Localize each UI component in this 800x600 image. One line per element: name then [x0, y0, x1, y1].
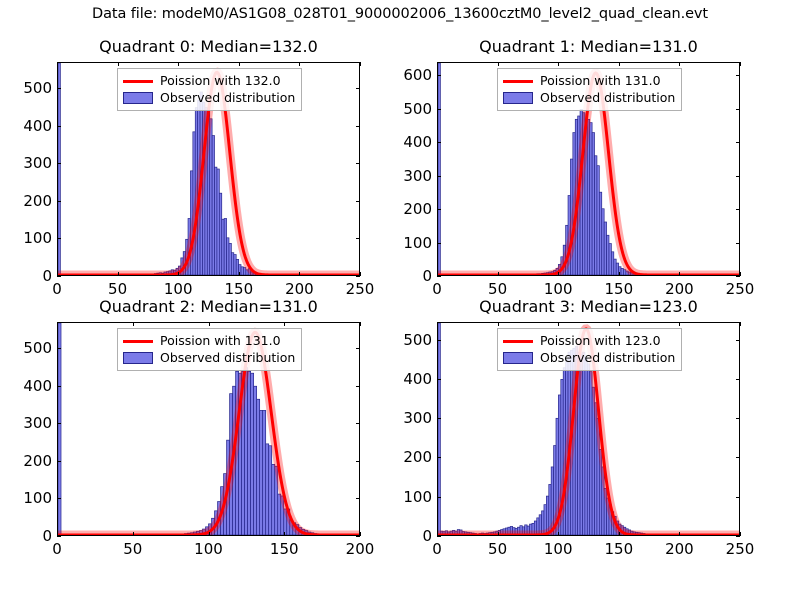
y-tick-label: 0 [422, 267, 432, 285]
y-tick-label: 300 [23, 154, 52, 172]
x-tick-mark [740, 532, 741, 536]
y-tick-mark [356, 163, 360, 164]
x-tick-mark [360, 322, 361, 326]
x-tick-label: 250 [346, 280, 375, 298]
y-tick-mark [736, 497, 740, 498]
y-tick-mark [437, 243, 441, 244]
y-tick-mark [437, 176, 441, 177]
y-tick-mark [57, 461, 61, 462]
x-tick-label: 0 [432, 540, 442, 558]
y-tick-mark [57, 423, 61, 424]
y-tick-mark [437, 536, 441, 537]
x-tick-mark [437, 272, 438, 276]
y-tick-label: 400 [23, 117, 52, 135]
y-tick-mark [736, 209, 740, 210]
legend-quadrant-1: Poission with 131.0 Observed distributio… [497, 68, 682, 111]
line-swatch-icon [123, 335, 153, 348]
line-swatch-icon [503, 75, 533, 88]
y-tick-label: 200 [23, 452, 52, 470]
x-tick-mark [284, 532, 285, 536]
legend-label-poisson: Poission with 131.0 [540, 73, 661, 90]
legend-label-poisson: Poission with 132.0 [160, 73, 281, 90]
y-tick-mark [437, 109, 441, 110]
x-tick-mark [360, 272, 361, 276]
y-tick-mark [437, 209, 441, 210]
y-tick-mark [736, 457, 740, 458]
legend-entry-observed: Observed distribution [503, 350, 675, 367]
x-tick-mark [133, 322, 134, 326]
subplot-quadrant-0: Quadrant 0: Median=132.0 010020030040050… [57, 62, 360, 276]
legend-label-observed: Observed distribution [540, 90, 675, 107]
x-tick-mark [619, 62, 620, 66]
y-tick-mark [437, 276, 441, 277]
x-tick-mark [619, 322, 620, 326]
bar-swatch-icon [123, 92, 153, 104]
y-tick-mark [57, 498, 61, 499]
y-tick-mark [437, 457, 441, 458]
y-tick-mark [736, 340, 740, 341]
y-tick-mark [57, 201, 61, 202]
y-tick-mark [356, 348, 360, 349]
x-tick-label: 100 [164, 280, 193, 298]
legend-entry-observed: Observed distribution [123, 350, 295, 367]
legend-entry-poisson: Poission with 131.0 [123, 333, 295, 350]
legend-label-poisson: Poission with 123.0 [540, 333, 661, 350]
y-tick-mark [57, 536, 61, 537]
y-tick-label: 100 [403, 488, 432, 506]
bar-swatch-icon [123, 352, 153, 364]
y-tick-mark [437, 418, 441, 419]
figure-canvas: Data file: modeM0/AS1G08_028T01_90000020… [0, 0, 800, 600]
y-tick-label: 200 [403, 200, 432, 218]
x-tick-mark [740, 322, 741, 326]
x-tick-mark [498, 272, 499, 276]
x-tick-label: 150 [604, 540, 633, 558]
y-tick-mark [736, 379, 740, 380]
y-tick-mark [437, 142, 441, 143]
x-tick-mark [498, 62, 499, 66]
y-tick-label: 200 [23, 192, 52, 210]
x-tick-mark [209, 532, 210, 536]
x-tick-mark [360, 62, 361, 66]
x-tick-label: 150 [270, 540, 299, 558]
y-tick-mark [57, 386, 61, 387]
legend-label-observed: Observed distribution [540, 350, 675, 367]
x-tick-label: 250 [726, 280, 755, 298]
x-tick-mark [437, 62, 438, 66]
y-tick-mark [356, 88, 360, 89]
x-tick-mark [57, 322, 58, 326]
x-tick-mark [558, 532, 559, 536]
x-tick-mark [118, 272, 119, 276]
x-tick-mark [558, 62, 559, 66]
x-tick-label: 150 [604, 280, 633, 298]
x-tick-mark [299, 272, 300, 276]
x-tick-mark [437, 322, 438, 326]
y-tick-label: 500 [403, 331, 432, 349]
line-swatch-icon [123, 75, 153, 88]
x-tick-label: 50 [488, 540, 507, 558]
legend-label-observed: Observed distribution [160, 90, 295, 107]
x-tick-mark [178, 272, 179, 276]
x-tick-label: 200 [346, 540, 375, 558]
x-tick-label: 200 [665, 280, 694, 298]
y-tick-label: 400 [403, 370, 432, 388]
y-tick-mark [736, 536, 740, 537]
x-tick-label: 200 [665, 540, 694, 558]
subplot-title-quadrant-2: Quadrant 2: Median=131.0 [57, 297, 360, 316]
legend-entry-poisson: Poission with 132.0 [123, 73, 295, 90]
y-tick-mark [736, 243, 740, 244]
x-tick-label: 0 [432, 280, 442, 298]
x-tick-mark [118, 62, 119, 66]
y-tick-label: 200 [403, 448, 432, 466]
x-tick-mark [619, 532, 620, 536]
legend-label-observed: Observed distribution [160, 350, 295, 367]
x-tick-mark [740, 272, 741, 276]
x-tick-label: 150 [224, 280, 253, 298]
x-tick-mark [133, 532, 134, 536]
y-tick-mark [57, 126, 61, 127]
x-tick-mark [239, 272, 240, 276]
x-tick-label: 100 [194, 540, 223, 558]
x-tick-mark [498, 532, 499, 536]
x-tick-mark [284, 322, 285, 326]
x-tick-label: 0 [52, 540, 62, 558]
x-tick-mark [558, 272, 559, 276]
y-tick-label: 400 [23, 377, 52, 395]
x-tick-label: 50 [123, 540, 142, 558]
subplot-quadrant-3: Quadrant 3: Median=123.0 010020030040050… [437, 322, 740, 536]
y-tick-mark [736, 142, 740, 143]
y-tick-mark [57, 88, 61, 89]
y-tick-mark [736, 276, 740, 277]
y-tick-mark [356, 276, 360, 277]
x-tick-mark [209, 322, 210, 326]
figure-title: Data file: modeM0/AS1G08_028T01_90000020… [0, 6, 800, 22]
y-tick-mark [437, 75, 441, 76]
x-tick-mark [299, 62, 300, 66]
y-tick-mark [356, 201, 360, 202]
x-tick-mark [740, 62, 741, 66]
line-swatch-icon [503, 335, 533, 348]
x-tick-label: 0 [52, 280, 62, 298]
y-tick-mark [57, 163, 61, 164]
y-tick-mark [437, 497, 441, 498]
bar-swatch-icon [503, 92, 533, 104]
legend-quadrant-2: Poission with 131.0 Observed distributio… [117, 328, 302, 371]
x-tick-mark [57, 532, 58, 536]
x-tick-label: 200 [285, 280, 314, 298]
y-tick-label: 100 [23, 489, 52, 507]
y-tick-mark [57, 276, 61, 277]
y-tick-mark [736, 109, 740, 110]
y-tick-label: 0 [422, 527, 432, 545]
y-tick-mark [736, 75, 740, 76]
legend-quadrant-3: Poission with 123.0 Observed distributio… [497, 328, 682, 371]
y-tick-label: 300 [23, 414, 52, 432]
y-tick-mark [356, 536, 360, 537]
legend-entry-observed: Observed distribution [123, 90, 295, 107]
y-tick-label: 100 [403, 234, 432, 252]
y-tick-mark [736, 176, 740, 177]
y-tick-mark [437, 340, 441, 341]
legend-label-poisson: Poission with 131.0 [160, 333, 281, 350]
legend-entry-poisson: Poission with 123.0 [503, 333, 675, 350]
x-tick-mark [437, 532, 438, 536]
y-tick-mark [356, 126, 360, 127]
legend-quadrant-0: Poission with 132.0 Observed distributio… [117, 68, 302, 111]
x-tick-label: 50 [488, 280, 507, 298]
legend-entry-observed: Observed distribution [503, 90, 675, 107]
subplot-title-quadrant-0: Quadrant 0: Median=132.0 [57, 37, 360, 56]
x-tick-mark [239, 62, 240, 66]
y-tick-mark [57, 348, 61, 349]
x-tick-mark [679, 322, 680, 326]
y-tick-mark [356, 461, 360, 462]
x-tick-label: 100 [544, 280, 573, 298]
y-tick-mark [356, 423, 360, 424]
y-tick-mark [356, 386, 360, 387]
x-tick-label: 250 [726, 540, 755, 558]
y-tick-label: 0 [42, 267, 52, 285]
x-tick-mark [498, 322, 499, 326]
x-tick-mark [679, 272, 680, 276]
x-tick-mark [360, 532, 361, 536]
x-tick-mark [679, 532, 680, 536]
y-tick-label: 300 [403, 167, 432, 185]
x-tick-mark [57, 62, 58, 66]
y-tick-label: 500 [23, 79, 52, 97]
y-tick-label: 400 [403, 133, 432, 151]
x-tick-mark [619, 272, 620, 276]
y-tick-label: 500 [403, 100, 432, 118]
x-tick-mark [57, 272, 58, 276]
subplot-quadrant-1: Quadrant 1: Median=131.0 010020030040050… [437, 62, 740, 276]
y-tick-label: 0 [42, 527, 52, 545]
y-tick-mark [437, 379, 441, 380]
subplot-title-quadrant-1: Quadrant 1: Median=131.0 [437, 37, 740, 56]
subplot-quadrant-2: Quadrant 2: Median=131.0 010020030040050… [57, 322, 360, 536]
subplot-title-quadrant-3: Quadrant 3: Median=123.0 [437, 297, 740, 316]
x-tick-label: 50 [108, 280, 127, 298]
legend-entry-poisson: Poission with 131.0 [503, 73, 675, 90]
y-tick-mark [356, 498, 360, 499]
x-tick-label: 100 [544, 540, 573, 558]
x-tick-mark [178, 62, 179, 66]
y-tick-mark [356, 238, 360, 239]
x-tick-mark [558, 322, 559, 326]
x-tick-mark [679, 62, 680, 66]
y-tick-label: 300 [403, 409, 432, 427]
y-tick-mark [736, 418, 740, 419]
bar-swatch-icon [503, 352, 533, 364]
y-tick-label: 600 [403, 66, 432, 84]
y-tick-label: 100 [23, 229, 52, 247]
y-tick-label: 500 [23, 339, 52, 357]
y-tick-mark [57, 238, 61, 239]
